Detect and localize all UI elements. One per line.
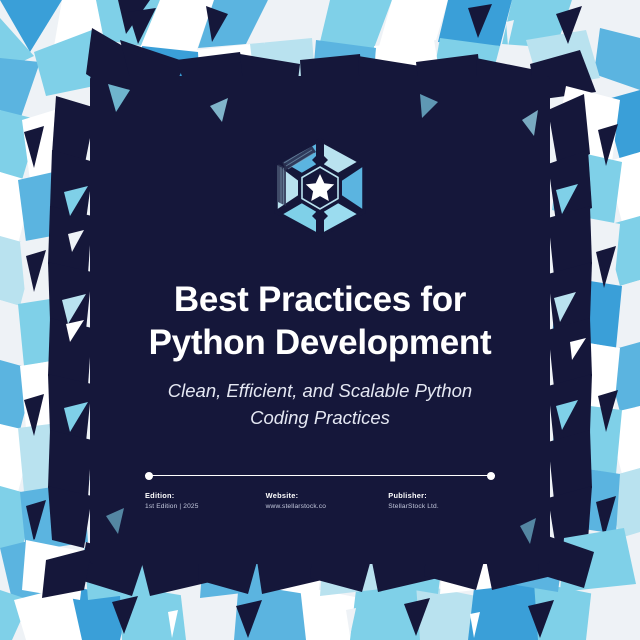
title-line-2: Python Development <box>120 322 520 365</box>
cover-content: Best Practices for Python Development Cl… <box>90 76 550 564</box>
publisher-value: StellarStock Ltd. <box>388 503 495 510</box>
book-cover: Best Practices for Python Development Cl… <box>0 0 640 640</box>
subtitle-line-2: Coding Practices <box>130 405 510 432</box>
edition-value: 1st Edition | 2025 <box>145 503 262 510</box>
website-value[interactable]: www.stellarstock.co <box>266 503 379 510</box>
hexagon-crystal-star-icon <box>268 136 372 245</box>
subtitle-line-1: Clean, Efficient, and Scalable Python <box>130 378 510 405</box>
page-subtitle: Clean, Efficient, and Scalable Python Co… <box>130 378 510 431</box>
divider-line <box>145 475 495 476</box>
divider-dot-left <box>145 472 153 480</box>
metadata-row: Edition: 1st Edition | 2025 Website: www… <box>145 491 495 511</box>
divider-dot-right <box>487 472 495 480</box>
divider <box>145 472 495 480</box>
shards-left <box>0 96 96 556</box>
meta-column-website: Website: www.stellarstock.co <box>262 491 379 511</box>
page-title: Best Practices for Python Development <box>120 279 520 364</box>
meta-column-publisher: Publisher: StellarStock Ltd. <box>378 491 495 511</box>
website-label: Website: <box>266 491 379 500</box>
shards-right <box>548 86 640 548</box>
meta-column-edition: Edition: 1st Edition | 2025 <box>145 491 262 511</box>
edition-label: Edition: <box>145 491 262 500</box>
cover-footer: Edition: 1st Edition | 2025 Website: www… <box>145 472 495 511</box>
title-line-1: Best Practices for <box>120 279 520 322</box>
publisher-label: Publisher: <box>388 491 495 500</box>
